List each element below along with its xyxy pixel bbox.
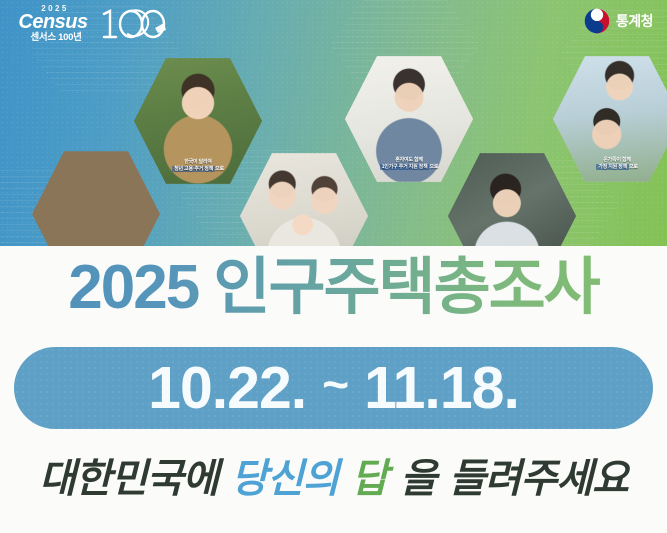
taegeuk-emblem-icon bbox=[584, 8, 610, 34]
census-logo-word: Census bbox=[12, 13, 94, 32]
tagline-part1: 대한민국에 bbox=[39, 456, 218, 502]
census-logo-korean: 센서스 100년 bbox=[12, 32, 100, 43]
census-logo: 2025 Census 센서스 100년 bbox=[12, 4, 172, 44]
date-separator: ~ bbox=[322, 357, 348, 411]
tagline-part3: 답 bbox=[351, 456, 387, 502]
tagline: 대한민국에 당신의 답 을 들려주세요 bbox=[0, 446, 667, 504]
tagline-part2: 당신의 bbox=[231, 456, 338, 502]
date-start: 10.22. bbox=[148, 354, 306, 422]
tagline-part4: 을 들려주세요 bbox=[400, 456, 628, 502]
date-banner: 10.22. ~ 11.18. bbox=[14, 347, 653, 429]
date-end: 11.18. bbox=[364, 354, 519, 422]
page-title: 2025 인구주택총조사 bbox=[0, 252, 667, 324]
agency-name: 통계청 bbox=[616, 11, 653, 31]
agency-logo: 통계청 bbox=[584, 6, 653, 36]
census-logo-year: 2025 bbox=[16, 4, 94, 13]
hero-banner: 2025 Census 센서스 100년 통계청 인식전환과 함께 노인 일자 bbox=[0, 0, 667, 246]
census-100-icon bbox=[98, 6, 170, 42]
